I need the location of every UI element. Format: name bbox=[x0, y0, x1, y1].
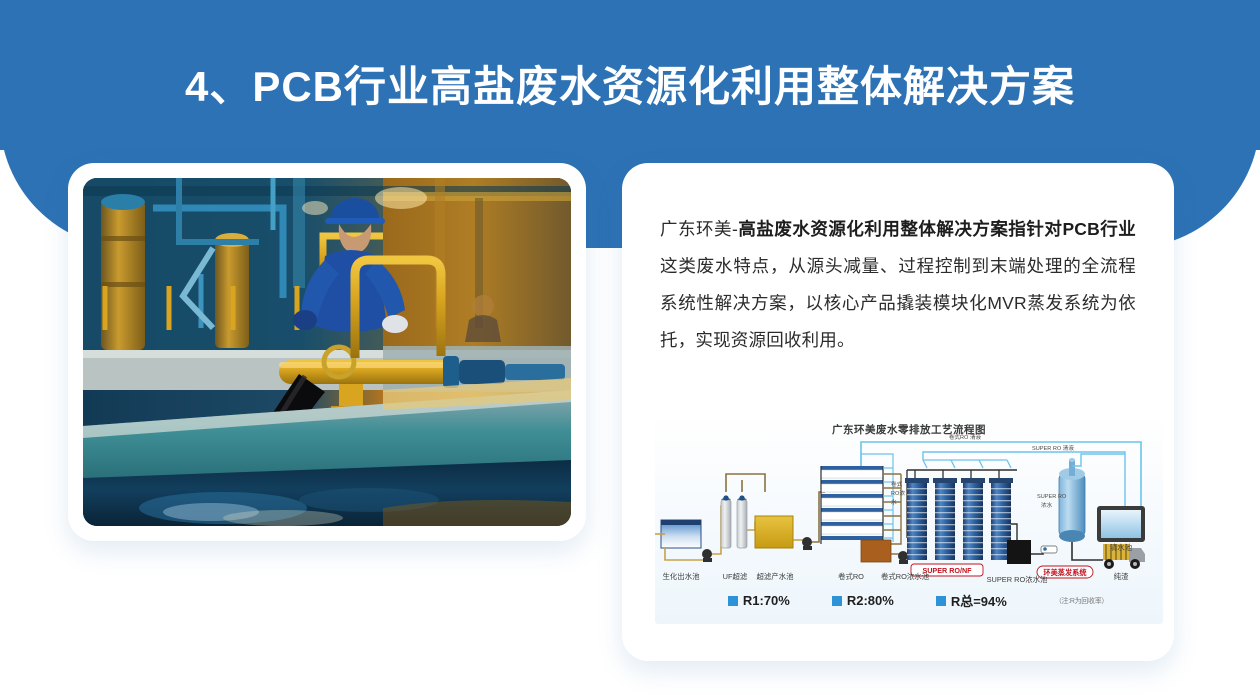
pipe-label-spiral-ro-concentrate: 卷式 bbox=[891, 480, 903, 488]
spiral-ro-rack bbox=[821, 454, 901, 544]
desc-part-3: 这类废水特点，从源头减量、过程控制到末端处理的全流程系统性解决方案，以核心产品撬… bbox=[660, 256, 1136, 350]
slide-root: 4、PCB行业高盐废水资源化利用整体解决方案 bbox=[0, 0, 1260, 695]
stage-label-5: SUPER RO浓水池 bbox=[987, 575, 1048, 584]
stage-label-0: 生化出水池 bbox=[663, 572, 701, 581]
diagram-legend: R1:70% R2:80% R总=94% （注:R为回收率） bbox=[655, 591, 1163, 610]
stage-label-1: UF超滤 bbox=[723, 572, 748, 581]
legend-note: （注:R为回收率） bbox=[1055, 596, 1108, 606]
legend-item-r1: R1:70% bbox=[728, 593, 790, 608]
svg-text:环美蒸发系统: 环美蒸发系统 bbox=[1043, 568, 1087, 577]
process-flow-diagram: 广东环美废水零排放工艺流程图 bbox=[655, 414, 1163, 624]
stage-label-6: 纯渣 bbox=[1114, 572, 1129, 581]
svg-text:SUPER RO/NF: SUPER RO/NF bbox=[922, 566, 972, 575]
legend-swatch-icon bbox=[832, 596, 842, 606]
tank-label-clear-water: 清水池 bbox=[1110, 543, 1133, 552]
stage-label-3: 卷式RO bbox=[838, 572, 864, 581]
content-card: 广东环美-高盐废水资源化利用整体解决方案指针对PCB行业这类废水特点，从源头减量… bbox=[622, 163, 1174, 661]
desc-part-1: 高盐废水资源化利用整体解决方案指针对 bbox=[738, 219, 1062, 239]
legend-label-r2: R2:80% bbox=[847, 593, 894, 608]
pipe-label-super-ro-permeate: SUPER RO 清液 bbox=[1032, 444, 1074, 452]
pipe-label-spiral-ro-permeate: 卷式RO 清液 bbox=[949, 433, 982, 441]
stage-label-4: 卷式RO浓水池 bbox=[881, 572, 930, 581]
photo-card bbox=[68, 163, 586, 541]
pipe-label-spiral-ro-concentrate-3: 水 bbox=[891, 498, 897, 506]
pipe-label-spiral-ro-concentrate-2: RO浓 bbox=[891, 489, 905, 497]
pipe-label-super-ro-concentrate-2: 浓水 bbox=[1041, 501, 1053, 509]
page-title: 4、PCB行业高盐废水资源化利用整体解决方案 bbox=[0, 62, 1260, 112]
legend-swatch-icon bbox=[936, 596, 946, 606]
legend-label-rtotal: R总=94% bbox=[951, 591, 1007, 610]
clear-water-pool bbox=[1097, 506, 1145, 542]
pipe-label-super-ro-concentrate: SUPER RO bbox=[1037, 494, 1067, 500]
desc-part-2: PCB行业 bbox=[1062, 219, 1136, 239]
stage-label-2: 超滤产水池 bbox=[757, 572, 795, 581]
legend-item-rtotal: R总=94% bbox=[936, 591, 1007, 610]
legend-swatch-icon bbox=[728, 596, 738, 606]
facility-photo bbox=[83, 178, 571, 526]
facility-photo-illustration bbox=[83, 178, 571, 526]
legend-label-r1: R1:70% bbox=[743, 593, 790, 608]
super-ro-vessels bbox=[905, 478, 1013, 560]
legend-item-r2: R2:80% bbox=[832, 593, 894, 608]
desc-part-0: 广东环美- bbox=[660, 219, 738, 239]
solution-description: 广东环美-高盐废水资源化利用整体解决方案指针对PCB行业这类废水特点，从源头减量… bbox=[660, 211, 1136, 359]
flow-diagram-svg: 卷式RO 清液 SUPER RO 清液 SUPER RO 浓水 卷式 RO浓 水… bbox=[655, 414, 1163, 584]
